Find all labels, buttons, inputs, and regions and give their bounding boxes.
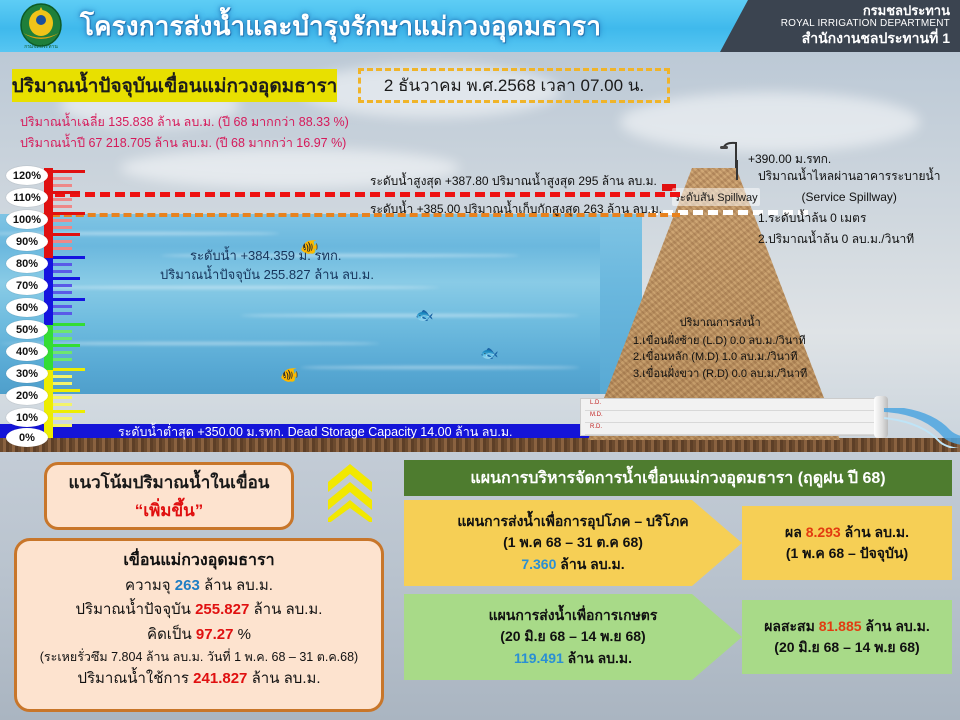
gauge-tick [53,170,85,173]
datetime-box: 2 ธันวาคม พ.ศ.2568 เวลา 07.00 น. [358,68,670,103]
release-info-block: ปริมาณการส่งน้ำ 1.เขื่อนฝั่งซ้าย (L.D) 0… [633,315,807,382]
gauge-segment-yellow [44,370,53,438]
result-consumption-value-row: ผล 8.293 ล้าน ลบ.ม. [785,522,909,543]
capacity-value: 263 [175,577,200,594]
gauge-label-90: 90% [6,232,48,251]
pipe-label-rd: R.D. [585,424,875,435]
fish-icon: 🐟 [415,306,434,324]
plan-agriculture-arrow: แผนการส่งน้ำเพื่อการเกษตร (20 มิ.ย 68 – … [404,594,742,680]
dead-storage-text: ระดับน้ำต่ำสุด +350.00 ม.รทก. Dead Stora… [118,422,513,442]
release-row-ld: 1.เขื่อนฝั่งซ้าย (L.D) 0.0 ลบ.ม./วินาที [633,333,807,350]
gauge-tick [53,382,72,385]
plan-agriculture-value-row: 119.491 ล้าน ลบ.ม. [514,648,632,669]
gauge-tick [53,389,80,392]
royal-emblem-icon: กรมชลประทาน [10,2,72,52]
pipe-label-ld: L.D. [585,400,875,411]
result-agriculture-period: (20 มิ.ย 68 – 14 พ.ย 68) [774,637,919,658]
reservoir-water: 🐟 🐠 🐟 🐠 [0,214,600,394]
spillway-row-level: 1.ระดับน้ำล้น 0 เมตร [758,208,940,229]
plan-agriculture-unit: ล้าน ลบ.ม. [568,650,632,666]
result-consumption-unit: ล้าน ลบ.ม. [845,524,909,540]
pipe-label-md: M.D. [585,412,875,423]
lamp-post-icon [706,138,746,168]
normal-level-text: ระดับน้ำ +385.00 ปริมาณน้ำเก็บกักสูงสุด … [370,200,662,219]
spillway-row-volume: 2.ปริมาณน้ำล้น 0 ลบ.ม./วินาที [758,229,940,250]
dam-current-row: ปริมาณน้ำปัจจุบัน 255.827 ล้าน ลบ.ม. [17,598,381,622]
svg-text:กรมชลประทาน: กรมชลประทาน [24,44,58,50]
gauge-tick [53,305,72,308]
trend-card: แนวโน้มปริมาณน้ำในเขื่อน “เพิ่มขึ้น” [44,462,294,530]
current-value: 255.827 [195,601,249,618]
trend-value: “เพิ่มขึ้น” [135,501,203,520]
usable-label: ปริมาณน้ำใช้การ [77,670,189,687]
gauge-tick [53,417,72,420]
gauge-label-10: 10% [6,408,48,427]
water-discharge-jet [884,408,960,448]
gauge-tick [53,226,72,229]
gauge-label-80: 80% [6,254,48,273]
capacity-unit: ล้าน ลบ.ม. [204,577,273,594]
gauge-tick [53,233,80,236]
gauge-label-100: 100% [6,210,48,229]
dam-summary-title: เขื่อนแม่กวงอุดมธารา [17,548,381,574]
stat-average-volume: ปริมาณน้ำเฉลี่ย 135.838 ล้าน ลบ.ม. (ปี 6… [20,112,349,133]
dam-summary-card: เขื่อนแม่กวงอุดมธารา ความจุ 263 ล้าน ลบ.… [14,538,384,712]
gauge-tick [53,344,80,347]
plan-agriculture-line1: แผนการส่งน้ำเพื่อการเกษตร [489,605,658,626]
spillway-title: ปริมาณน้ำไหลผ่านอาคารระบายน้ำ [758,166,940,187]
gauge-tick [53,191,80,194]
wave-line [240,314,580,317]
plan-agriculture-value: 119.491 [514,650,564,666]
office-name-th: สำนักงานชลประทานที่ 1 [720,30,950,47]
max-level-text: ระดับน้ำสูงสุด +387.80 ปริมาณน้ำสูงสุด 2… [370,172,657,191]
spillway-info-block: ปริมาณน้ำไหลผ่านอาคารระบายน้ำ (Service S… [758,166,940,250]
trend-value-wrap: “เพิ่มขึ้น” [135,497,203,524]
dead-storage-bar: ระดับน้ำต่ำสุด +350.00 ม.รทก. Dead Stora… [0,424,592,438]
gauge-tick [53,375,72,378]
release-row-md: 2.เขื่อนหลัก (M.D) 1.0 ลบ.ม./วินาที [633,349,807,366]
plan-consumption-period: (1 พ.ค 68 – 31 ต.ค 68) [503,532,643,553]
gauge-tick [53,247,72,250]
gauge-tick [53,337,72,340]
trend-title: แนวโน้มปริมาณน้ำในเขื่อน [69,469,270,496]
gauge-tick [53,284,72,287]
gauge-tick [53,410,85,413]
fish-icon: 🐟 [480,344,499,362]
gauge-tick [53,240,72,243]
percent-label: คิดเป็น [147,626,192,643]
current-volume-text: ปริมาณน้ำปัจจุบัน 255.827 ล้าน ลบ.ม. [160,264,374,285]
dam-evaporation-note: (ระเหยรั่วซึม 7.804 ล้าน ลบ.ม. วันที่ 1 … [17,647,381,667]
max-level-line [40,192,680,197]
gauge-tick [53,291,72,294]
department-name-th: กรมชลประทาน [720,3,950,18]
result-consumption-label: ผล [785,524,802,540]
gauge-tick [53,396,72,399]
fish-icon: 🐠 [280,366,299,384]
result-agriculture-value: 81.885 [819,618,862,634]
percent-unit: % [238,626,251,643]
result-consumption-value: 8.293 [806,524,841,540]
dam-usable-row: ปริมาณน้ำใช้การ 241.827 ล้าน ลบ.ม. [17,667,381,691]
gauge-label-0: 0% [6,428,48,447]
release-title: ปริมาณการส่งน้ำ [633,315,807,332]
plan-consumption-line1: แผนการส่งน้ำเพื่อการอุปโภค – บริโภค [457,511,688,532]
result-agriculture-label: ผลสะสม [764,618,815,634]
gauge-tick [53,177,72,180]
current-label: ปริมาณน้ำปัจจุบัน [76,601,191,618]
dam-percent-row: คิดเป็น 97.27 % [17,623,381,647]
gauge-label-50: 50% [6,320,48,339]
gauge-label-120: 120% [6,166,48,185]
spillway-crest-label: ระดับสัน Spillway [672,188,760,206]
gauge-label-110: 110% [6,188,48,207]
gauge-tick [53,368,85,371]
result-agriculture-value-row: ผลสะสม 81.885 ล้าน ลบ.ม. [764,616,930,637]
gauge-tick [53,256,85,259]
gauge-tick [53,198,72,201]
capacity-label: ความจุ [125,577,171,594]
plan-consumption-arrow: แผนการส่งน้ำเพื่อการอุปโภค – บริโภค (1 พ… [404,500,742,586]
plan-consumption-unit: ล้าน ลบ.ม. [560,556,624,572]
result-consumption-period: (1 พ.ค 68 – ปัจจุบัน) [786,543,908,564]
department-name-en: ROYAL IRRIGATION DEPARTMENT [720,18,950,30]
trend-up-chevrons-icon [322,462,378,522]
current-volume-title-box: ปริมาณน้ำปัจจุบันเขื่อนแม่กวงอุดมธารา [12,69,337,102]
percent-value: 97.27 [196,626,234,643]
wave-line [300,366,580,369]
plan-consumption-value: 7.360 [521,556,556,572]
gauge-tick [53,312,72,315]
gauge-tick [53,358,72,361]
gauge-label-60: 60% [6,298,48,317]
outlet-pipes: L.D. M.D. R.D. [580,398,880,436]
release-row-rd: 3.เขื่อนฝั่งขวา (R.D) 0.0 ลบ.ม./วินาที [633,366,807,383]
current-unit: ล้าน ลบ.ม. [253,601,322,618]
spillway-subtitle: (Service Spillway) [758,187,940,208]
page-header: กรมชลประทาน โครงการส่งน้ำและบำรุงรักษาแม… [0,0,960,52]
gauge-tick [53,212,85,215]
result-consumption-box: ผล 8.293 ล้าน ลบ.ม. (1 พ.ค 68 – ปัจจุบัน… [742,506,952,580]
gauge-label-20: 20% [6,386,48,405]
gauge-tick [53,270,72,273]
current-volume-title: ปริมาณน้ำปัจจุบันเขื่อนแม่กวงอุดมธารา [12,71,338,101]
current-level-text: ระดับน้ำ +384.359 ม. รทก. [190,245,341,266]
plan-agriculture-period: (20 มิ.ย 68 – 14 พ.ย 68) [500,626,645,647]
usable-unit: ล้าน ลบ.ม. [252,670,321,687]
gauge-tick [53,219,72,222]
page-title: โครงการส่งน้ำและบำรุงรักษาแม่กวงอุดมธารา [80,6,601,47]
gauge-label-30: 30% [6,364,48,383]
gauge-tick [53,424,72,427]
gauge-tick [53,403,72,406]
comparison-stats: ปริมาณน้ำเฉลี่ย 135.838 ล้าน ลบ.ม. (ปี 6… [20,112,349,153]
result-agriculture-unit: ล้าน ลบ.ม. [865,618,929,634]
usable-value: 241.827 [193,670,247,687]
gauge-tick [53,432,85,435]
gauge-tick [53,330,72,333]
department-panel: กรมชลประทาน ROYAL IRRIGATION DEPARTMENT … [720,0,960,52]
gauge-tick [53,351,72,354]
result-agriculture-box: ผลสะสม 81.885 ล้าน ลบ.ม. (20 มิ.ย 68 – 1… [742,600,952,674]
gauge-tick [53,205,72,208]
plan-consumption-value-row: 7.360 ล้าน ลบ.ม. [521,554,624,575]
wave-line [20,286,440,289]
management-plan-header: แผนการบริหารจัดการน้ำเขื่อนแม่กวงอุดมธาร… [404,460,952,496]
gauge-tick [53,263,72,266]
gauge-tick [53,277,80,280]
datetime-text: 2 ธันวาคม พ.ศ.2568 เวลา 07.00 น. [384,72,644,99]
gauge-label-70: 70% [6,276,48,295]
stat-previous-year-volume: ปริมาณน้ำปี 67 218.705 ล้าน ลบ.ม. (ปี 68… [20,133,349,154]
gauge-tick [53,184,72,187]
gauge-label-40: 40% [6,342,48,361]
gauge-tick [53,298,85,301]
dam-capacity-row: ความจุ 263 ล้าน ลบ.ม. [17,574,381,598]
gauge-tick [53,323,85,326]
